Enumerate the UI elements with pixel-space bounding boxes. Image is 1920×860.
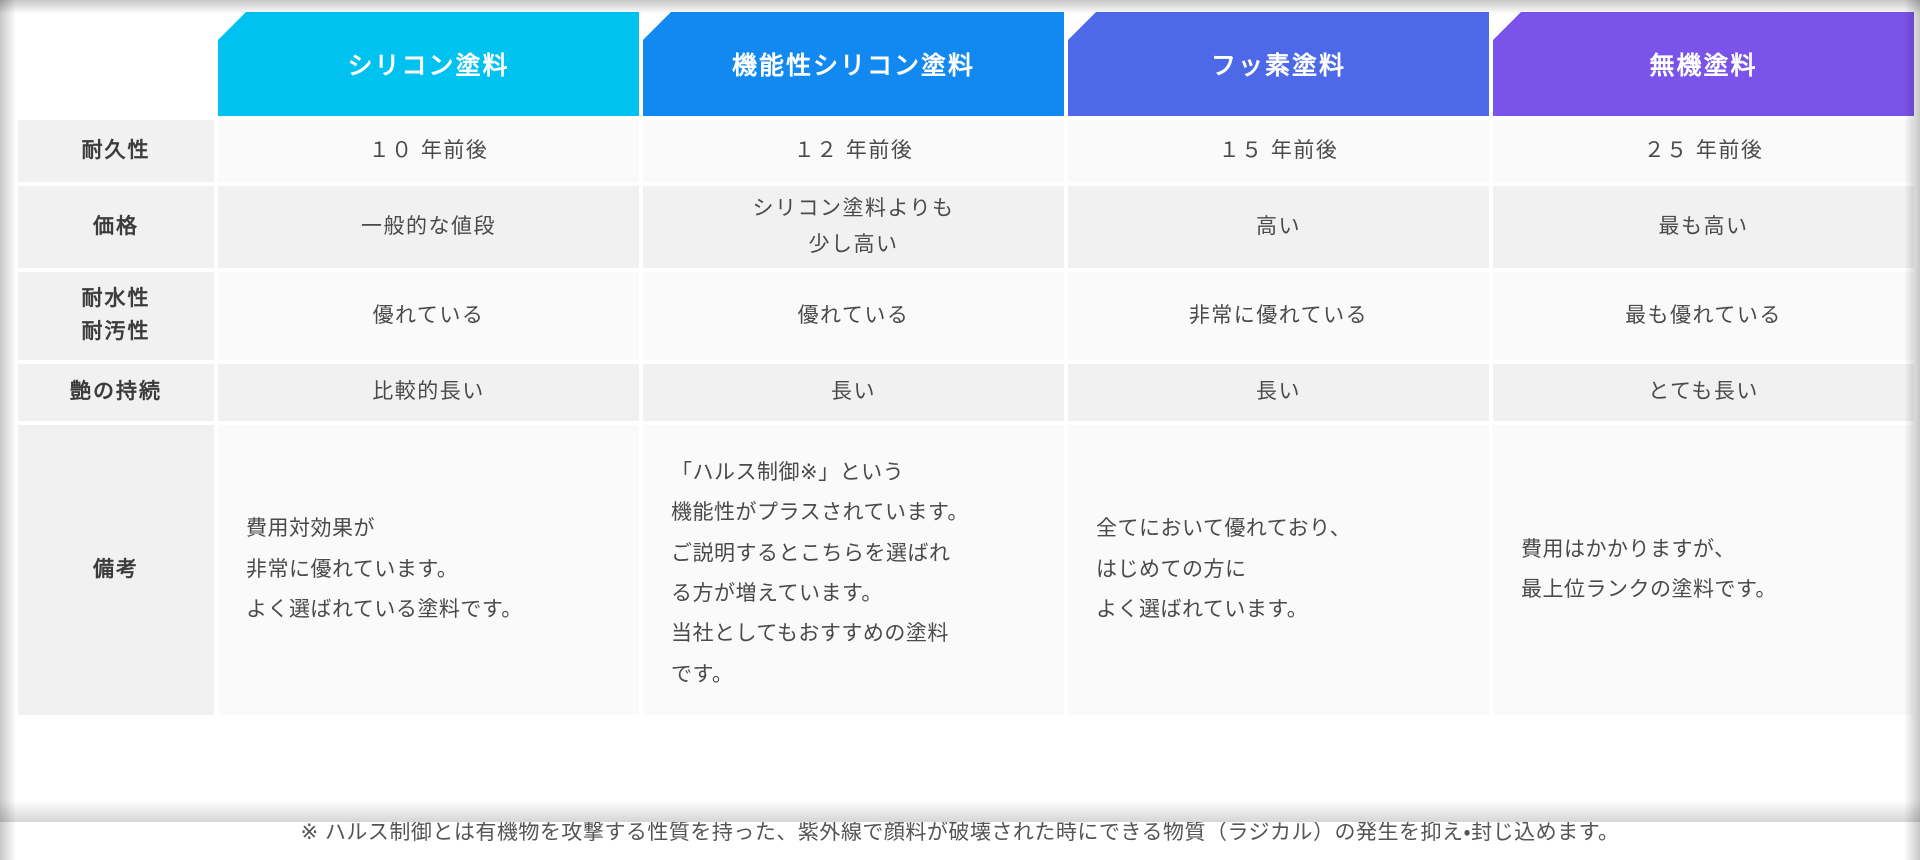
cell-gloss-func_silicon: 長い [643, 364, 1064, 421]
cell-price-fluorine: 高い [1068, 186, 1489, 268]
table-row: 耐久性１０ 年前後１２ 年前後１５ 年前後２５ 年前後 [18, 120, 1914, 182]
row-label-line: 価格 [18, 211, 214, 244]
table-row: 価格一般的な値段シリコン塗料よりも少し高い高い最も高い [18, 186, 1914, 268]
cell-durability-fluorine: １５ 年前後 [1068, 120, 1489, 182]
header-chevron-fluorine: フッ素塗料 [1068, 12, 1489, 116]
cell-line: 最も高い [1493, 209, 1914, 245]
cell-line: 一般的な値段 [218, 209, 639, 245]
header-chevron-func-silicon: 機能性シリコン塗料 [643, 12, 1064, 116]
row-label-price: 価格 [18, 186, 214, 268]
cell-line: 高い [1068, 209, 1489, 245]
paint-comparison-table: シリコン塗料 機能性シリコン塗料 フッ素塗料 [14, 0, 1918, 719]
table-row: 備考費用対効果が非常に優れています。よく選ばれている塗料です。「ハルス制御※」と… [18, 425, 1914, 715]
cell-remarks-inorganic: 費用はかかりますが、最上位ランクの塗料です。 [1493, 425, 1914, 715]
cell-line: 機能性がプラスされています。 [671, 493, 1038, 533]
cell-line: １５ 年前後 [1068, 133, 1489, 169]
cell-price-func_silicon: シリコン塗料よりも少し高い [643, 186, 1064, 268]
row-label-gloss: 艶の持続 [18, 364, 214, 421]
cell-line: はじめての方に [1096, 550, 1463, 590]
cell-line: よく選ばれています。 [1096, 590, 1463, 630]
table-header: シリコン塗料 機能性シリコン塗料 フッ素塗料 [18, 4, 1914, 116]
header-corner-blank [18, 4, 214, 116]
cell-line: シリコン塗料よりも [643, 191, 1064, 227]
table-body: 耐久性１０ 年前後１２ 年前後１５ 年前後２５ 年前後価格一般的な値段シリコン塗… [18, 120, 1914, 715]
cell-line: 非常に優れている [1068, 298, 1489, 334]
footnote-text: ※ ハルス制御とは有機物を攻撃する性質を持った、紫外線で顔料が破壊された時にでき… [0, 822, 1920, 843]
table-row: 艶の持続比較的長い長い長いとても長い [18, 364, 1914, 421]
header-chevron-inorganic: 無機塗料 [1493, 12, 1914, 116]
cell-line: 全てにおいて優れており、 [1096, 509, 1463, 549]
cell-line: です。 [671, 655, 1038, 695]
comparison-table-page: シリコン塗料 機能性シリコン塗料 フッ素塗料 [0, 0, 1920, 860]
cell-durability-inorganic: ２５ 年前後 [1493, 120, 1914, 182]
table-row: 耐水性耐汚性優れている優れている非常に優れている最も優れている [18, 272, 1914, 360]
column-header-inorganic: 無機塗料 [1493, 4, 1914, 116]
cell-line: る方が増えています。 [671, 574, 1038, 614]
cell-line: 長い [643, 374, 1064, 410]
row-label-durability: 耐久性 [18, 120, 214, 182]
row-label-remarks: 備考 [18, 425, 214, 715]
cell-line: ２５ 年前後 [1493, 133, 1914, 169]
row-label-line: 備考 [18, 554, 214, 587]
column-header-silicon: シリコン塗料 [218, 4, 639, 116]
column-header-label: 無機塗料 [1649, 46, 1757, 82]
column-header-label: フッ素塗料 [1211, 46, 1346, 82]
header-chevron-silicon: シリコン塗料 [218, 12, 639, 116]
row-label-line: 耐汚性 [18, 316, 214, 349]
cell-line: 非常に優れています。 [246, 550, 613, 590]
cell-remarks-func_silicon: 「ハルス制御※」という機能性がプラスされています。ご説明するとこちらを選ばれる方… [643, 425, 1064, 715]
cell-water_stain-inorganic: 最も優れている [1493, 272, 1914, 360]
cell-line: 最も優れている [1493, 298, 1914, 334]
column-header-fluorine: フッ素塗料 [1068, 4, 1489, 116]
column-header-label: 機能性シリコン塗料 [732, 46, 975, 82]
paint-comparison-table-wrap: シリコン塗料 機能性シリコン塗料 フッ素塗料 [0, 0, 1920, 719]
cell-line: １０ 年前後 [218, 133, 639, 169]
cell-line: 優れている [218, 298, 639, 334]
column-header-label: シリコン塗料 [347, 46, 509, 82]
cell-price-silicon: 一般的な値段 [218, 186, 639, 268]
cell-price-inorganic: 最も高い [1493, 186, 1914, 268]
cell-line: １２ 年前後 [643, 133, 1064, 169]
cell-line: 最上位ランクの塗料です。 [1521, 570, 1888, 610]
cell-remarks-silicon: 費用対効果が非常に優れています。よく選ばれている塗料です。 [218, 425, 639, 715]
cell-water_stain-func_silicon: 優れている [643, 272, 1064, 360]
cell-line: 費用はかかりますが、 [1521, 530, 1888, 570]
cell-durability-silicon: １０ 年前後 [218, 120, 639, 182]
row-label-water_stain: 耐水性耐汚性 [18, 272, 214, 360]
viewport-edge-shadow-bottom [0, 800, 1920, 822]
column-header-func-silicon: 機能性シリコン塗料 [643, 4, 1064, 116]
cell-line: 「ハルス制御※」という [671, 453, 1038, 493]
header-row: シリコン塗料 機能性シリコン塗料 フッ素塗料 [18, 4, 1914, 116]
cell-line: 当社としてもおすすめの塗料 [671, 614, 1038, 654]
cell-line: 比較的長い [218, 374, 639, 410]
cell-line: よく選ばれている塗料です。 [246, 590, 613, 630]
cell-line: 費用対効果が [246, 509, 613, 549]
row-label-line: 耐水性 [18, 283, 214, 316]
cell-gloss-silicon: 比較的長い [218, 364, 639, 421]
cell-gloss-fluorine: 長い [1068, 364, 1489, 421]
cell-line: 長い [1068, 374, 1489, 410]
footnote-bar: ※ ハルス制御とは有機物を攻撃する性質を持った、紫外線で顔料が破壊された時にでき… [0, 822, 1920, 860]
cell-line: 少し高い [643, 227, 1064, 263]
cell-line: ご説明するとこちらを選ばれ [671, 534, 1038, 574]
row-label-line: 耐久性 [18, 135, 214, 168]
cell-durability-func_silicon: １２ 年前後 [643, 120, 1064, 182]
cell-water_stain-silicon: 優れている [218, 272, 639, 360]
cell-line: 優れている [643, 298, 1064, 334]
row-label-line: 艶の持続 [18, 376, 214, 409]
cell-water_stain-fluorine: 非常に優れている [1068, 272, 1489, 360]
cell-gloss-inorganic: とても長い [1493, 364, 1914, 421]
cell-line: とても長い [1493, 374, 1914, 410]
cell-remarks-fluorine: 全てにおいて優れており、はじめての方によく選ばれています。 [1068, 425, 1489, 715]
